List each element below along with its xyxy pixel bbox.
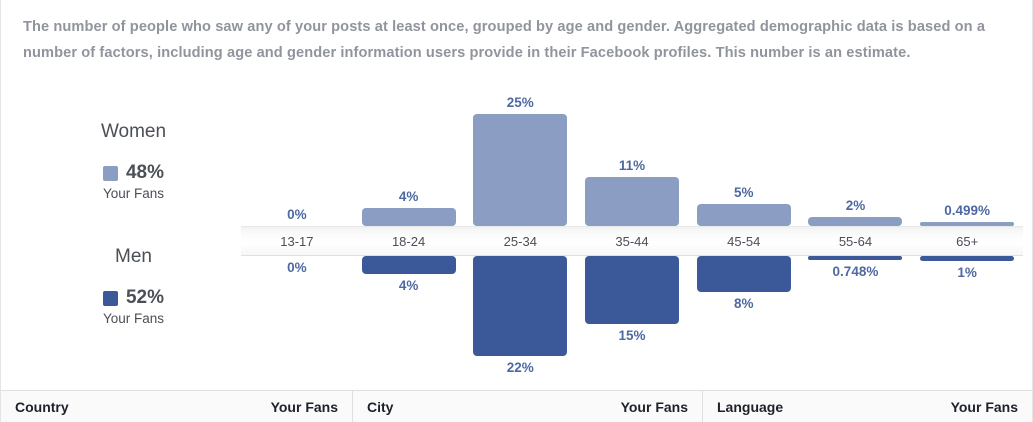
axis-category-label: 65+ (911, 226, 1023, 256)
gender-legend: Women 48% Your Fans Men 52% Your Fans (61, 118, 241, 328)
axis-category-label: 35-44 (576, 226, 688, 256)
bar-men-wrap (353, 256, 465, 274)
bar-value-men: 1% (911, 265, 1023, 280)
bar-value-women: 11% (576, 158, 688, 173)
bar-women-wrap (800, 217, 912, 226)
age-gender-bar-chart: 0%0%4%4%25%22%11%15%5%8%2%0.748%0.499%1%… (241, 92, 1023, 372)
bar-women-wrap (464, 114, 576, 226)
table-column-header-language[interactable]: Language (703, 399, 783, 415)
bar-value-women: 5% (688, 185, 800, 200)
bar-men[interactable] (362, 256, 456, 274)
bar-value-men: 0.748% (800, 264, 912, 279)
bar-value-men: 8% (688, 296, 800, 311)
legend-row-men: 52% (61, 287, 206, 309)
bar-women-wrap (576, 177, 688, 226)
bar-women[interactable] (808, 217, 902, 226)
demographics-panel: The number of people who saw any of your… (0, 0, 1033, 422)
legend-group-women: Women 48% Your Fans (61, 118, 206, 203)
bar-men-wrap (911, 256, 1023, 261)
axis-category-label: 25-34 (464, 226, 576, 256)
bar-women[interactable] (362, 208, 456, 226)
legend-percent-women: 48% (126, 162, 164, 184)
table-header-block: CityYour Fans (353, 391, 703, 422)
legend-title-men: Men (61, 243, 206, 271)
bar-value-men: 0% (241, 260, 353, 275)
bar-women-wrap (688, 204, 800, 226)
bar-men[interactable] (473, 256, 567, 356)
axis-category-label: 13-17 (241, 226, 353, 256)
bar-men[interactable] (808, 256, 902, 260)
demographics-table-header: CountryYour FansCityYour FansLanguageYou… (1, 390, 1032, 422)
legend-percent-men: 52% (126, 287, 164, 309)
women-color-swatch-icon (103, 166, 118, 181)
table-column-header-your-fans[interactable]: Your Fans (621, 399, 702, 415)
chart-axis-labels: 13-1718-2425-3435-4445-5455-6465+ (241, 226, 1023, 256)
axis-category-label: 18-24 (353, 226, 465, 256)
legend-group-men: Men 52% Your Fans (61, 243, 206, 328)
bar-women-wrap (353, 208, 465, 226)
bar-value-women: 2% (800, 198, 912, 213)
table-header-block: CountryYour Fans (1, 391, 353, 422)
bar-value-men: 15% (576, 328, 688, 343)
bar-women[interactable] (473, 114, 567, 226)
bar-men-wrap (576, 256, 688, 324)
bar-men[interactable] (585, 256, 679, 324)
bar-men[interactable] (697, 256, 791, 292)
bar-women[interactable] (697, 204, 791, 226)
table-column-header-your-fans[interactable]: Your Fans (951, 399, 1032, 415)
bar-men-wrap (464, 256, 576, 356)
table-column-header-country[interactable]: Country (1, 399, 69, 415)
legend-row-women: 48% (61, 162, 206, 184)
legend-sublabel-men: Your Fans (61, 310, 206, 328)
bar-value-women: 4% (353, 189, 465, 204)
table-column-header-city[interactable]: City (353, 399, 393, 415)
bar-men-wrap (800, 256, 912, 260)
bar-value-women: 25% (464, 95, 576, 110)
bar-value-women: 0.499% (911, 203, 1023, 218)
bar-value-men: 22% (464, 360, 576, 375)
legend-title-women: Women (61, 118, 206, 146)
bar-value-women: 0% (241, 207, 353, 222)
men-color-swatch-icon (103, 291, 118, 306)
bar-value-men: 4% (353, 278, 465, 293)
bar-women[interactable] (585, 177, 679, 226)
bar-men-wrap (688, 256, 800, 292)
table-column-header-your-fans[interactable]: Your Fans (271, 399, 352, 415)
table-header-block: LanguageYour Fans (703, 391, 1032, 422)
bar-men[interactable] (920, 256, 1014, 261)
axis-category-label: 55-64 (800, 226, 912, 256)
panel-description: The number of people who saw any of your… (23, 14, 1008, 66)
axis-category-label: 45-54 (688, 226, 800, 256)
legend-sublabel-women: Your Fans (61, 185, 206, 203)
